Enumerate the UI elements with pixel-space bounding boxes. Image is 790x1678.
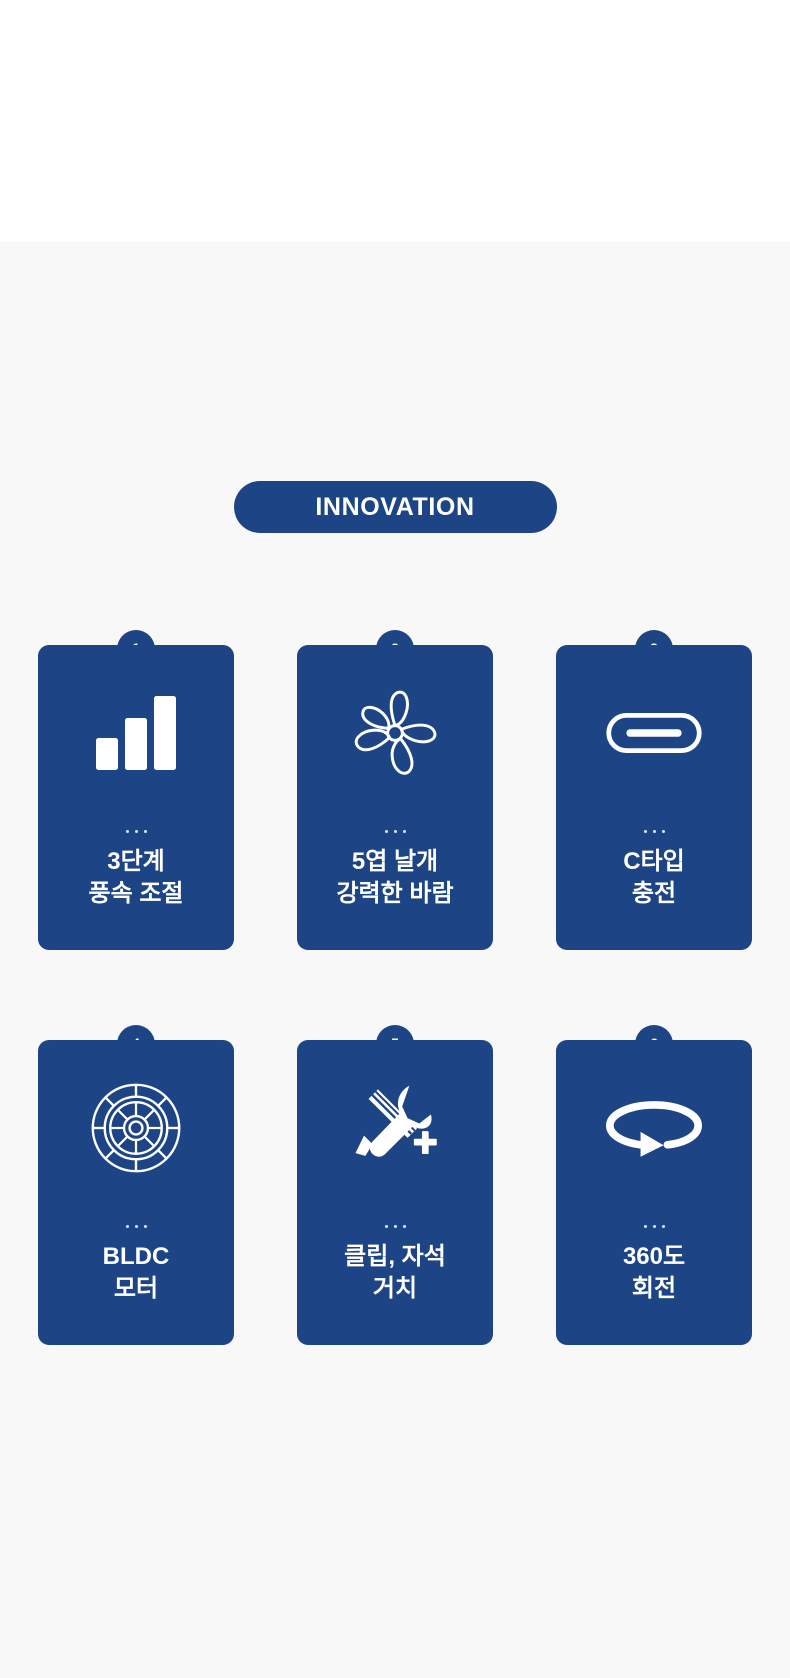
rotate-360-icon bbox=[556, 1040, 752, 1215]
card-label-line2-6: 회전 bbox=[626, 1273, 682, 1305]
page-root: INNOVATION 1 bbox=[0, 0, 790, 1678]
feature-card-4[interactable]: BLDC 모터 bbox=[38, 1040, 234, 1345]
innovation-badge-container: INNOVATION bbox=[0, 481, 790, 533]
usb-c-port-icon bbox=[556, 645, 752, 820]
feature-card-3[interactable]: C타입 충전 bbox=[556, 645, 752, 950]
card-label-line2-4: 모터 bbox=[108, 1273, 164, 1305]
card-label-line2-5: 거치 bbox=[367, 1273, 423, 1305]
feature-card-slot-1: 1 3단계 풍속 조절 bbox=[38, 630, 234, 950]
feature-card-6[interactable]: 360도 회전 bbox=[556, 1040, 752, 1345]
feature-card-slot-3: 3 C타입 충전 bbox=[556, 630, 752, 950]
card-dots-5 bbox=[385, 1215, 406, 1237]
fan-blade-icon bbox=[297, 645, 493, 820]
innovation-badge-label: INNOVATION bbox=[315, 493, 474, 522]
card-label-line2-1: 풍속 조절 bbox=[83, 878, 190, 910]
card-label-line2-3: 충전 bbox=[626, 878, 682, 910]
card-dots-2 bbox=[385, 820, 406, 842]
card-label-line1-3: C타입 bbox=[617, 846, 691, 878]
feature-card-row-1: 1 3단계 풍속 조절 bbox=[38, 630, 752, 950]
feature-card-grid: 1 3단계 풍속 조절 bbox=[38, 630, 752, 1345]
feature-card-row-2: 4 bbox=[38, 1025, 752, 1345]
feature-card-slot-5: 5 bbox=[297, 1025, 493, 1345]
feature-card-2[interactable]: 5엽 날개 강력한 바람 bbox=[297, 645, 493, 950]
innovation-badge: INNOVATION bbox=[234, 481, 557, 533]
card-label-line1-5: 클립, 자석 bbox=[338, 1241, 452, 1273]
feature-card-slot-4: 4 bbox=[38, 1025, 234, 1345]
card-dots-3 bbox=[644, 820, 665, 842]
card-label-line1-6: 360도 bbox=[617, 1241, 691, 1273]
card-label-line1-4: BLDC bbox=[97, 1241, 176, 1273]
card-dots-4 bbox=[126, 1215, 147, 1237]
feature-card-5[interactable]: 클립, 자석 거치 bbox=[297, 1040, 493, 1345]
top-white-band bbox=[0, 0, 790, 242]
feature-card-slot-2: 2 bbox=[297, 630, 493, 950]
bldc-motor-icon bbox=[38, 1040, 234, 1215]
bar-chart-icon bbox=[38, 645, 234, 820]
tools-plus-icon bbox=[297, 1040, 493, 1215]
feature-card-slot-6: 6 360도 회전 bbox=[556, 1025, 752, 1345]
card-label-line2-2: 강력한 바람 bbox=[330, 878, 459, 910]
feature-card-1[interactable]: 3단계 풍속 조절 bbox=[38, 645, 234, 950]
card-label-line1-2: 5엽 날개 bbox=[346, 846, 444, 878]
card-dots-6 bbox=[644, 1215, 665, 1237]
card-label-line1-1: 3단계 bbox=[101, 846, 171, 878]
card-dots-1 bbox=[126, 820, 147, 842]
